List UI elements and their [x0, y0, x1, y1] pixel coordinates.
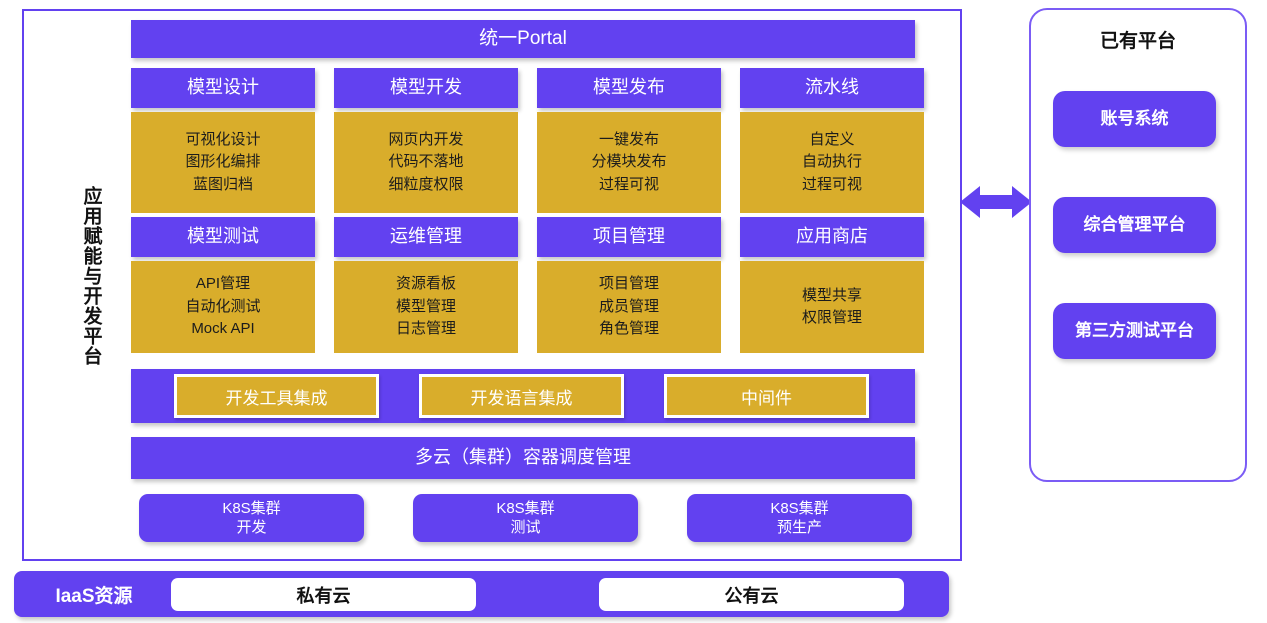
- platform-side-label: 应用赋能与开发平台: [74, 168, 108, 383]
- capability-item: 资源看板: [396, 273, 456, 296]
- capability-item: Mock API: [191, 318, 254, 341]
- capability-item: 成员管理: [599, 296, 659, 319]
- capability-item: 日志管理: [396, 318, 456, 341]
- diagram-canvas: 应用赋能与开发平台 统一Portal 模型设计 模型开发 模型发布 流水线 可视…: [0, 0, 1267, 623]
- capability-item: 代码不落地: [388, 151, 463, 174]
- capability-header-model-design[interactable]: 模型设计: [131, 68, 315, 108]
- capability-item: 项目管理: [599, 273, 659, 296]
- k8s-cluster-line2: 开发: [236, 518, 266, 538]
- capability-body-model-design: 可视化设计 图形化编排 蓝图归档: [131, 112, 315, 213]
- capability-item: 自定义: [809, 129, 854, 152]
- k8s-cluster-preprod[interactable]: K8S集群 预生产: [687, 494, 912, 542]
- capability-body-pipeline: 自定义 自动执行 过程可视: [740, 112, 924, 213]
- capability-body-model-development: 网页内开发 代码不落地 细粒度权限: [334, 112, 518, 213]
- capability-item: 可视化设计: [185, 129, 260, 152]
- capability-item: 模型共享: [802, 285, 862, 308]
- capability-header-model-release[interactable]: 模型发布: [537, 68, 721, 108]
- capability-body-app-store: 模型共享 权限管理: [740, 261, 924, 353]
- capability-body-ops-management: 资源看板 模型管理 日志管理: [334, 261, 518, 353]
- cloud-chip-private[interactable]: 私有云: [171, 578, 476, 611]
- capability-item: 细粒度权限: [388, 174, 463, 197]
- capability-header-app-store[interactable]: 应用商店: [740, 217, 924, 257]
- existing-platform-integrated-management[interactable]: 综合管理平台: [1053, 197, 1216, 253]
- capability-item: 自动执行: [802, 151, 862, 174]
- capability-body-project-management: 项目管理 成员管理 角色管理: [537, 261, 721, 353]
- k8s-cluster-line1: K8S集群: [496, 499, 554, 519]
- capability-body-model-test: API管理 自动化测试 Mock API: [131, 261, 315, 353]
- capability-item: 蓝图归档: [193, 174, 253, 197]
- capability-item: API管理: [196, 273, 250, 296]
- k8s-cluster-line2: 预生产: [777, 518, 822, 538]
- capability-item: 自动化测试: [185, 296, 260, 319]
- unified-portal-bar[interactable]: 统一Portal: [131, 20, 915, 58]
- existing-platform-account-system[interactable]: 账号系统: [1053, 91, 1216, 147]
- capability-header-ops-management[interactable]: 运维管理: [334, 217, 518, 257]
- existing-platform-third-party-test[interactable]: 第三方测试平台: [1053, 303, 1216, 359]
- k8s-cluster-line1: K8S集群: [222, 499, 280, 519]
- capability-item: 分模块发布: [591, 151, 666, 174]
- k8s-cluster-test[interactable]: K8S集群 测试: [413, 494, 638, 542]
- integration-chip-middleware[interactable]: 中间件: [664, 374, 869, 418]
- integration-chip-dev-tools[interactable]: 开发工具集成: [174, 374, 379, 418]
- k8s-cluster-line2: 测试: [510, 518, 540, 538]
- capability-header-project-management[interactable]: 项目管理: [537, 217, 721, 257]
- capability-body-model-release: 一键发布 分模块发布 过程可视: [537, 112, 721, 213]
- cloud-chip-public[interactable]: 公有云: [599, 578, 904, 611]
- k8s-cluster-dev[interactable]: K8S集群 开发: [139, 494, 364, 542]
- capability-item: 一键发布: [599, 129, 659, 152]
- existing-platforms-title: 已有平台: [1029, 26, 1247, 53]
- capability-item: 模型管理: [396, 296, 456, 319]
- multicloud-scheduling-bar[interactable]: 多云（集群）容器调度管理: [131, 437, 915, 479]
- k8s-cluster-line1: K8S集群: [770, 499, 828, 519]
- capability-item: 权限管理: [802, 307, 862, 330]
- integration-chip-dev-languages[interactable]: 开发语言集成: [419, 374, 624, 418]
- capability-item: 过程可视: [599, 174, 659, 197]
- double-arrow-icon: [960, 178, 1032, 226]
- capability-header-model-development[interactable]: 模型开发: [334, 68, 518, 108]
- capability-header-model-test[interactable]: 模型测试: [131, 217, 315, 257]
- capability-item: 过程可视: [802, 174, 862, 197]
- capability-item: 图形化编排: [185, 151, 260, 174]
- capability-header-pipeline[interactable]: 流水线: [740, 68, 924, 108]
- capability-item: 网页内开发: [388, 129, 463, 152]
- capability-item: 角色管理: [599, 318, 659, 341]
- iaas-resource-label: IaaS资源: [14, 571, 174, 617]
